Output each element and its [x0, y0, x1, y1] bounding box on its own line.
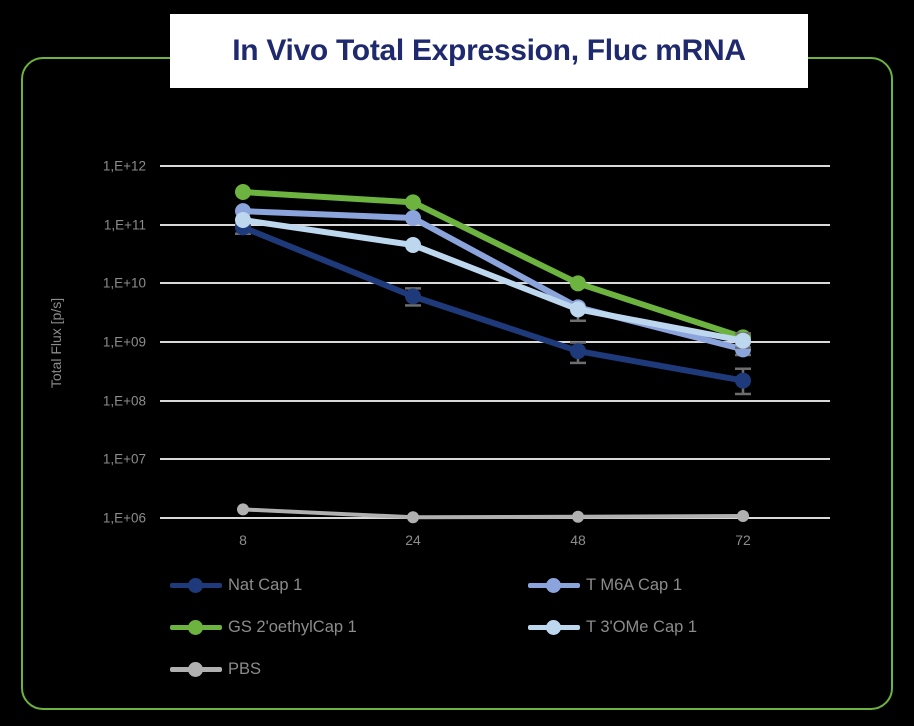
data-point	[235, 212, 251, 228]
legend-label: PBS	[228, 660, 261, 679]
legend-label: T 3'OMe Cap 1	[586, 618, 697, 637]
series-pbs	[237, 503, 749, 523]
data-point	[235, 184, 251, 200]
chart-title-box: In Vivo Total Expression, Fluc mRNA	[170, 14, 808, 88]
legend-item[interactable]: T 3'OMe Cap 1	[528, 614, 697, 640]
legend-swatch-icon	[170, 617, 222, 637]
data-point	[570, 343, 586, 359]
data-point	[735, 373, 751, 389]
legend-swatch-icon	[170, 575, 222, 595]
data-point	[405, 288, 421, 304]
series-nat-cap-1	[235, 219, 751, 394]
page-title: In Vivo Total Expression, Fluc mRNA	[232, 34, 746, 68]
series-t-3-ome-cap-1	[235, 212, 751, 349]
legend-label: T M6A Cap 1	[586, 576, 682, 595]
legend-label: GS 2'oethylCap 1	[228, 618, 357, 637]
legend-item[interactable]: PBS	[170, 656, 261, 682]
chart-series-layer	[0, 0, 914, 726]
data-point	[405, 210, 421, 226]
legend-swatch-icon	[170, 659, 222, 679]
legend-label: Nat Cap 1	[228, 576, 302, 595]
legend-item[interactable]: GS 2'oethylCap 1	[170, 614, 357, 640]
data-point	[737, 510, 749, 522]
data-point	[407, 511, 419, 523]
data-point	[405, 194, 421, 210]
legend-item[interactable]: Nat Cap 1	[170, 572, 302, 598]
series-t-m6a-cap-1	[235, 203, 751, 357]
legend-swatch-icon	[528, 575, 580, 595]
legend-item[interactable]: T M6A Cap 1	[528, 572, 682, 598]
data-point	[572, 511, 584, 523]
data-point	[237, 503, 249, 515]
data-point	[570, 275, 586, 291]
legend-swatch-icon	[528, 617, 580, 637]
data-point	[735, 333, 751, 349]
data-point	[405, 237, 421, 253]
data-point	[570, 301, 586, 317]
